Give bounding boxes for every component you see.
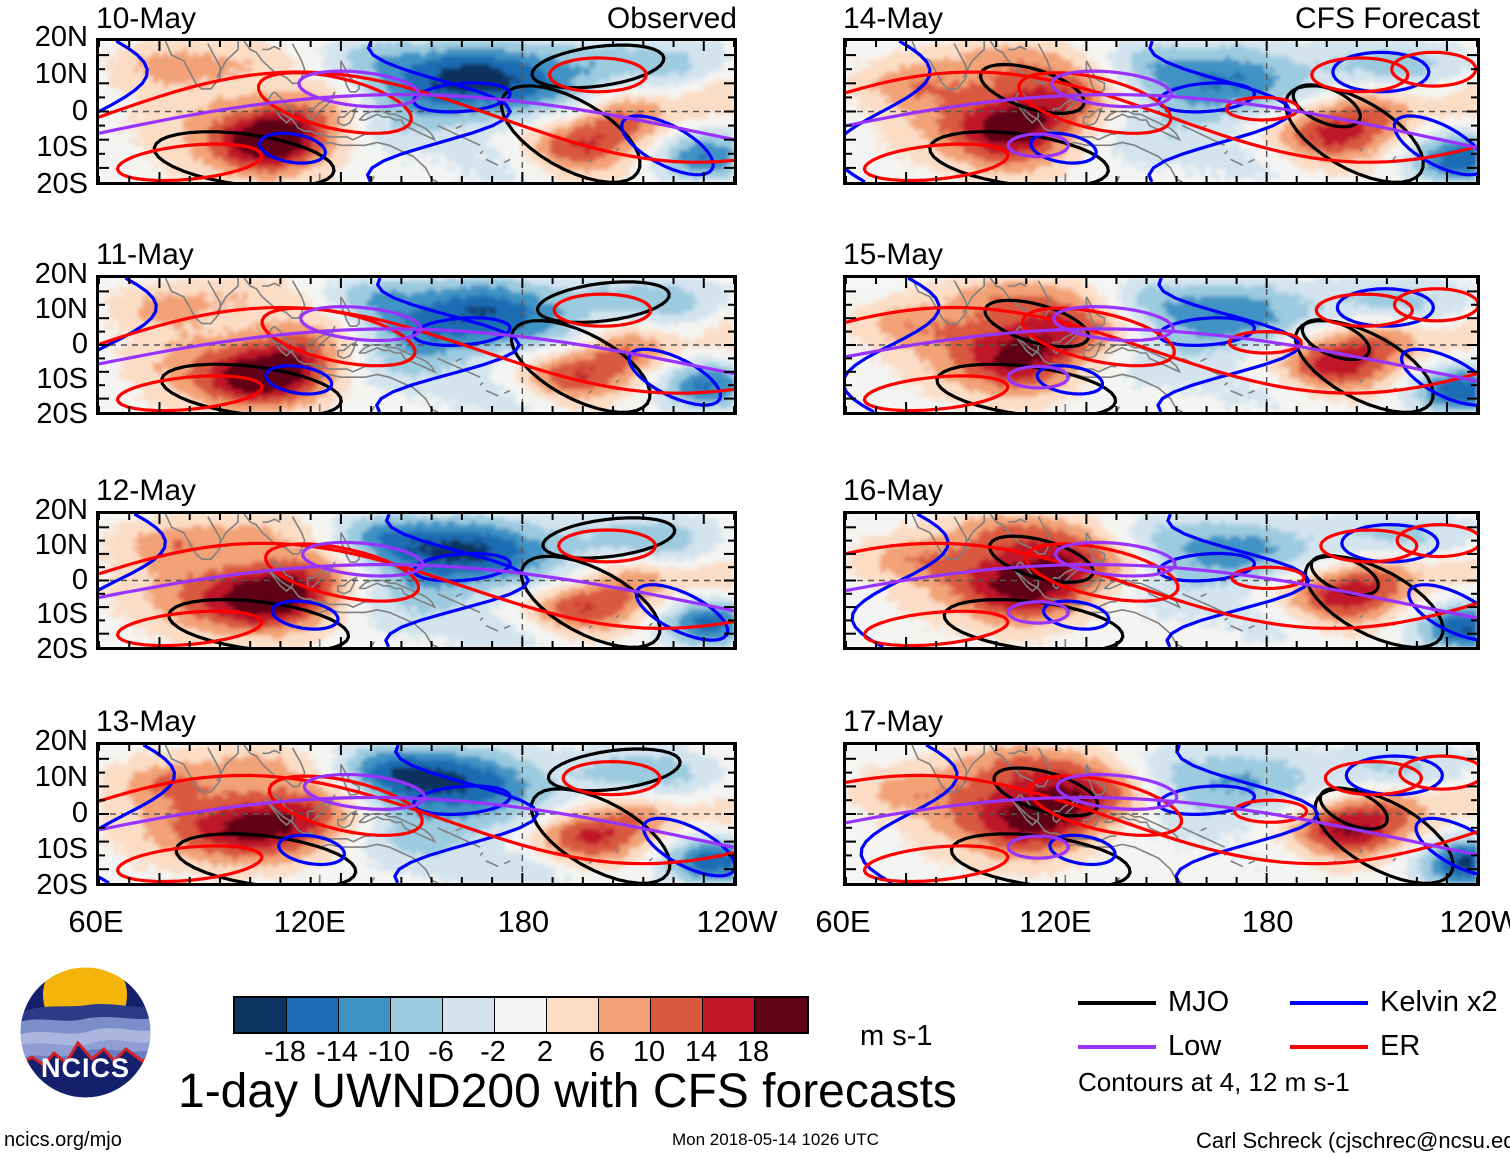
colorbar-tick-label: 14 <box>671 1038 731 1067</box>
legend-item-mjo: MJO <box>1078 988 1229 1017</box>
panel-source-label: Observed <box>437 4 737 34</box>
colorbar-tick-label: 6 <box>567 1038 627 1067</box>
colorbar-swatches <box>233 996 809 1034</box>
y-tick-label: 10N <box>0 295 88 324</box>
y-tick-label: 20N <box>0 727 88 756</box>
y-tick-label: 20S <box>0 871 88 900</box>
legend-label: ER <box>1380 1032 1420 1061</box>
y-tick-label: 0 <box>0 97 88 126</box>
map-panel[interactable] <box>96 275 737 415</box>
colorbar-swatch <box>235 998 287 1032</box>
y-tick-label: 10N <box>0 531 88 560</box>
x-tick-label: 180 <box>477 906 569 937</box>
colorbar-swatch <box>547 998 599 1032</box>
panel-date-label: 13-May <box>96 707 196 737</box>
main-title: 1-day UWND200 with CFS forecasts <box>178 1068 957 1116</box>
colorbar-tick-label: 2 <box>515 1038 575 1067</box>
colorbar-swatch <box>651 998 703 1032</box>
map-canvas <box>99 745 734 883</box>
y-tick-label: 10N <box>0 763 88 792</box>
map-canvas <box>846 278 1477 412</box>
map-panel[interactable] <box>96 742 737 886</box>
colorbar-tick-label: -10 <box>359 1038 419 1067</box>
author-credit: Carl Schreck (cjschrec@ncsu.edu) <box>1196 1130 1510 1152</box>
panel-date-label: 10-May <box>96 4 196 34</box>
map-panel[interactable] <box>96 38 737 185</box>
y-tick-label: 20S <box>0 400 88 429</box>
colorbar-tick-labels: -18-14-10-6-226101418 <box>233 1034 809 1068</box>
panel-date-label: 16-May <box>843 476 943 506</box>
y-tick-label: 10S <box>0 133 88 162</box>
contours-note: Contours at 4, 12 m s-1 <box>1078 1069 1350 1095</box>
x-tick-label: 60E <box>50 906 142 937</box>
x-tick-label: 120E <box>264 906 356 937</box>
panel-date-label: 14-May <box>843 4 943 34</box>
panel-source-label: CFS Forecast <box>1180 4 1480 34</box>
y-tick-label: 10S <box>0 600 88 629</box>
y-tick-label: 0 <box>0 330 88 359</box>
map-panel[interactable] <box>96 511 737 650</box>
colorbar-swatch <box>599 998 651 1032</box>
colorbar-swatch <box>287 998 339 1032</box>
map-panel[interactable] <box>843 38 1480 185</box>
y-tick-label: 20N <box>0 496 88 525</box>
mjo-line-swatch <box>1078 1001 1156 1005</box>
legend-item-kelvin: Kelvin x2 <box>1290 988 1498 1017</box>
y-tick-label: 10N <box>0 60 88 89</box>
colorbar-swatch <box>755 998 807 1032</box>
colorbar-tick-label: -14 <box>307 1038 367 1067</box>
y-tick-label: 10S <box>0 835 88 864</box>
colorbar-tick-label: -18 <box>255 1038 315 1067</box>
colorbar-swatch <box>495 998 547 1032</box>
legend-label: Kelvin x2 <box>1380 988 1498 1017</box>
colorbar-tick-label: 18 <box>723 1038 783 1067</box>
colorbar-units-label: m s-1 <box>860 1022 933 1051</box>
map-canvas <box>846 514 1477 647</box>
y-tick-label: 10S <box>0 365 88 394</box>
panel-date-label: 17-May <box>843 707 943 737</box>
ncics-logo-text: NCICS <box>18 1053 153 1084</box>
legend-item-low: Low <box>1078 1032 1221 1061</box>
x-tick-label: 120W <box>1434 906 1510 937</box>
map-canvas <box>99 41 734 182</box>
colorbar-tick-label: -2 <box>463 1038 523 1067</box>
map-canvas <box>846 41 1477 182</box>
x-tick-label: 120W <box>691 906 783 937</box>
x-tick-label: 60E <box>797 906 889 937</box>
map-canvas <box>99 514 734 647</box>
y-tick-label: 20N <box>0 23 88 52</box>
legend-label: MJO <box>1168 988 1229 1017</box>
x-tick-label: 120E <box>1009 906 1101 937</box>
site-url-label: ncics.org/mjo <box>4 1130 122 1150</box>
legend-label: Low <box>1168 1032 1221 1061</box>
map-panel[interactable] <box>843 742 1480 886</box>
er-line-swatch <box>1290 1045 1368 1049</box>
y-tick-label: 20S <box>0 170 88 199</box>
panel-date-label: 15-May <box>843 240 943 270</box>
panel-date-label: 12-May <box>96 476 196 506</box>
map-canvas <box>846 745 1477 883</box>
panel-date-label: 11-May <box>96 240 194 270</box>
legend-item-er: ER <box>1290 1032 1420 1061</box>
colorbar-swatch <box>339 998 391 1032</box>
x-tick-label: 180 <box>1222 906 1314 937</box>
y-tick-label: 0 <box>0 799 88 828</box>
colorbar: -18-14-10-6-226101418 <box>233 996 809 1068</box>
ncics-logo: NCICS <box>18 965 153 1100</box>
low-line-swatch <box>1078 1045 1156 1049</box>
map-panel[interactable] <box>843 275 1480 415</box>
y-tick-label: 0 <box>0 566 88 595</box>
y-tick-label: 20N <box>0 260 88 289</box>
map-panel[interactable] <box>843 511 1480 650</box>
colorbar-tick-label: -6 <box>411 1038 471 1067</box>
colorbar-swatch <box>443 998 495 1032</box>
colorbar-tick-label: 10 <box>619 1038 679 1067</box>
colorbar-swatch <box>703 998 755 1032</box>
generation-timestamp: Mon 2018-05-14 1026 UTC <box>672 1131 879 1148</box>
colorbar-swatch <box>391 998 443 1032</box>
map-canvas <box>99 278 734 412</box>
y-tick-label: 20S <box>0 635 88 664</box>
kelvin-line-swatch <box>1290 1001 1368 1005</box>
